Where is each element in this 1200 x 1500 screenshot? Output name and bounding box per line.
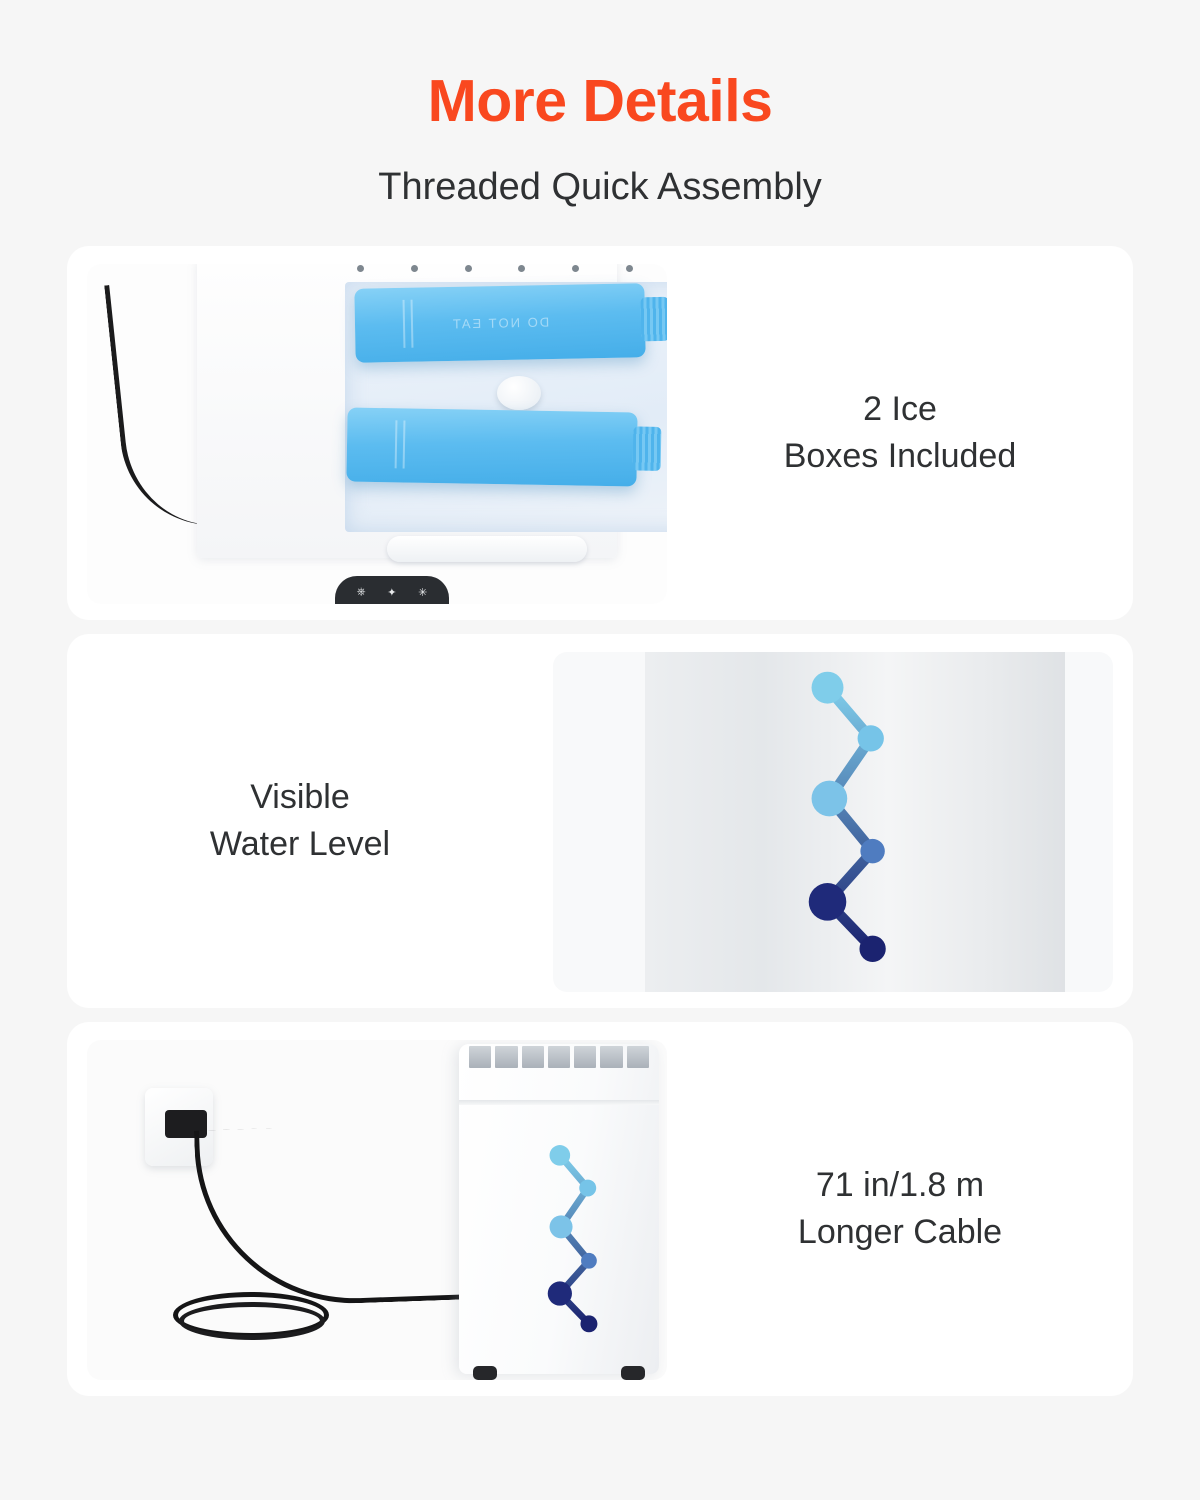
water-level-chain-graphic [791,667,911,977]
louver-slat [600,1046,622,1068]
water-level-photo-frame [553,652,1113,992]
louver-slat [548,1046,570,1068]
caster-wheel [473,1366,497,1380]
ice-box-rib [403,420,406,468]
chain-node [858,725,884,751]
feature-card-list: DO NOT EAT ⎈ ✦ ✳ [0,246,1200,1396]
feature-card-longer-cable: 71 in/1.8 m Longer Cable [67,1022,1133,1396]
louver-slat [522,1046,544,1068]
ice-box-rib [403,300,406,348]
feature-caption-water-level: Visible Water Level [67,774,533,868]
ice-box-upper: DO NOT EAT [354,283,645,363]
chain-node [812,781,848,817]
control-panel-icon-row: ⎈ ✦ ✳ [335,586,449,599]
louver-slat [627,1046,649,1068]
water-level-chain-graphic-small [533,1142,617,1342]
power-icon: ⎈ [357,586,366,599]
cooler-body-shape: DO NOT EAT [197,264,617,558]
water-level-indicator-photo [533,634,1133,1008]
vent-hole-icon [411,265,418,272]
chain-node [580,1315,597,1332]
vent-hole-icon [572,265,579,272]
louver-slat [469,1046,491,1068]
feature-caption-ice-boxes: 2 Ice Boxes Included [667,386,1133,480]
cable-coil-inner [179,1302,325,1340]
cable-photo-frame [87,1040,667,1380]
feature-caption-longer-cable: 71 in/1.8 m Longer Cable [667,1162,1133,1256]
vent-hole-icon [465,265,472,272]
cooler-unit-shape [459,1044,659,1374]
ice-box-rib [411,300,414,348]
page-header: More Details Threaded Quick Assembly [0,0,1200,206]
vent-hole-icon [518,265,525,272]
ice-box-lower [346,407,637,486]
louver-slat [495,1046,517,1068]
caster-wheel [621,1366,645,1380]
chain-node [579,1180,596,1197]
swing-icon: ✳ [418,586,427,599]
feature-card-water-level: Visible Water Level [67,634,1133,1008]
page-title: More Details [0,72,1200,131]
tank-handle-shape [387,536,587,562]
chain-node [860,839,884,863]
louver-row [469,1046,649,1068]
chain-node [812,672,844,704]
chain-node [581,1253,597,1269]
vent-hole-icon [626,265,633,272]
cable-run-shape [194,1121,470,1308]
chain-node [859,936,885,962]
control-panel: ⎈ ✦ ✳ [335,576,449,604]
panel-seam [459,1100,659,1105]
fan-icon: ✦ [387,586,396,599]
ice-box-rib [395,420,398,468]
chain-node [548,1281,572,1305]
chain-node [809,883,847,921]
chain-node [550,1145,571,1166]
ice-box-tray-photo: DO NOT EAT ⎈ ✦ ✳ [67,246,667,620]
power-cable-photo [67,1022,667,1396]
ice-box-cap [641,297,667,342]
ice-box-warning-label: DO NOT EAT [451,315,550,332]
vent-hole-icon [357,265,364,272]
float-ball-shape [497,376,541,410]
ice-box-cap [633,426,662,470]
chain-node [550,1215,573,1238]
page-subtitle: Threaded Quick Assembly [0,168,1200,206]
ice-box-photo-frame: DO NOT EAT ⎈ ✦ ✳ [87,264,667,604]
feature-card-ice-boxes: DO NOT EAT ⎈ ✦ ✳ [67,246,1133,620]
vent-hole-row [357,264,667,276]
louver-slat [574,1046,596,1068]
